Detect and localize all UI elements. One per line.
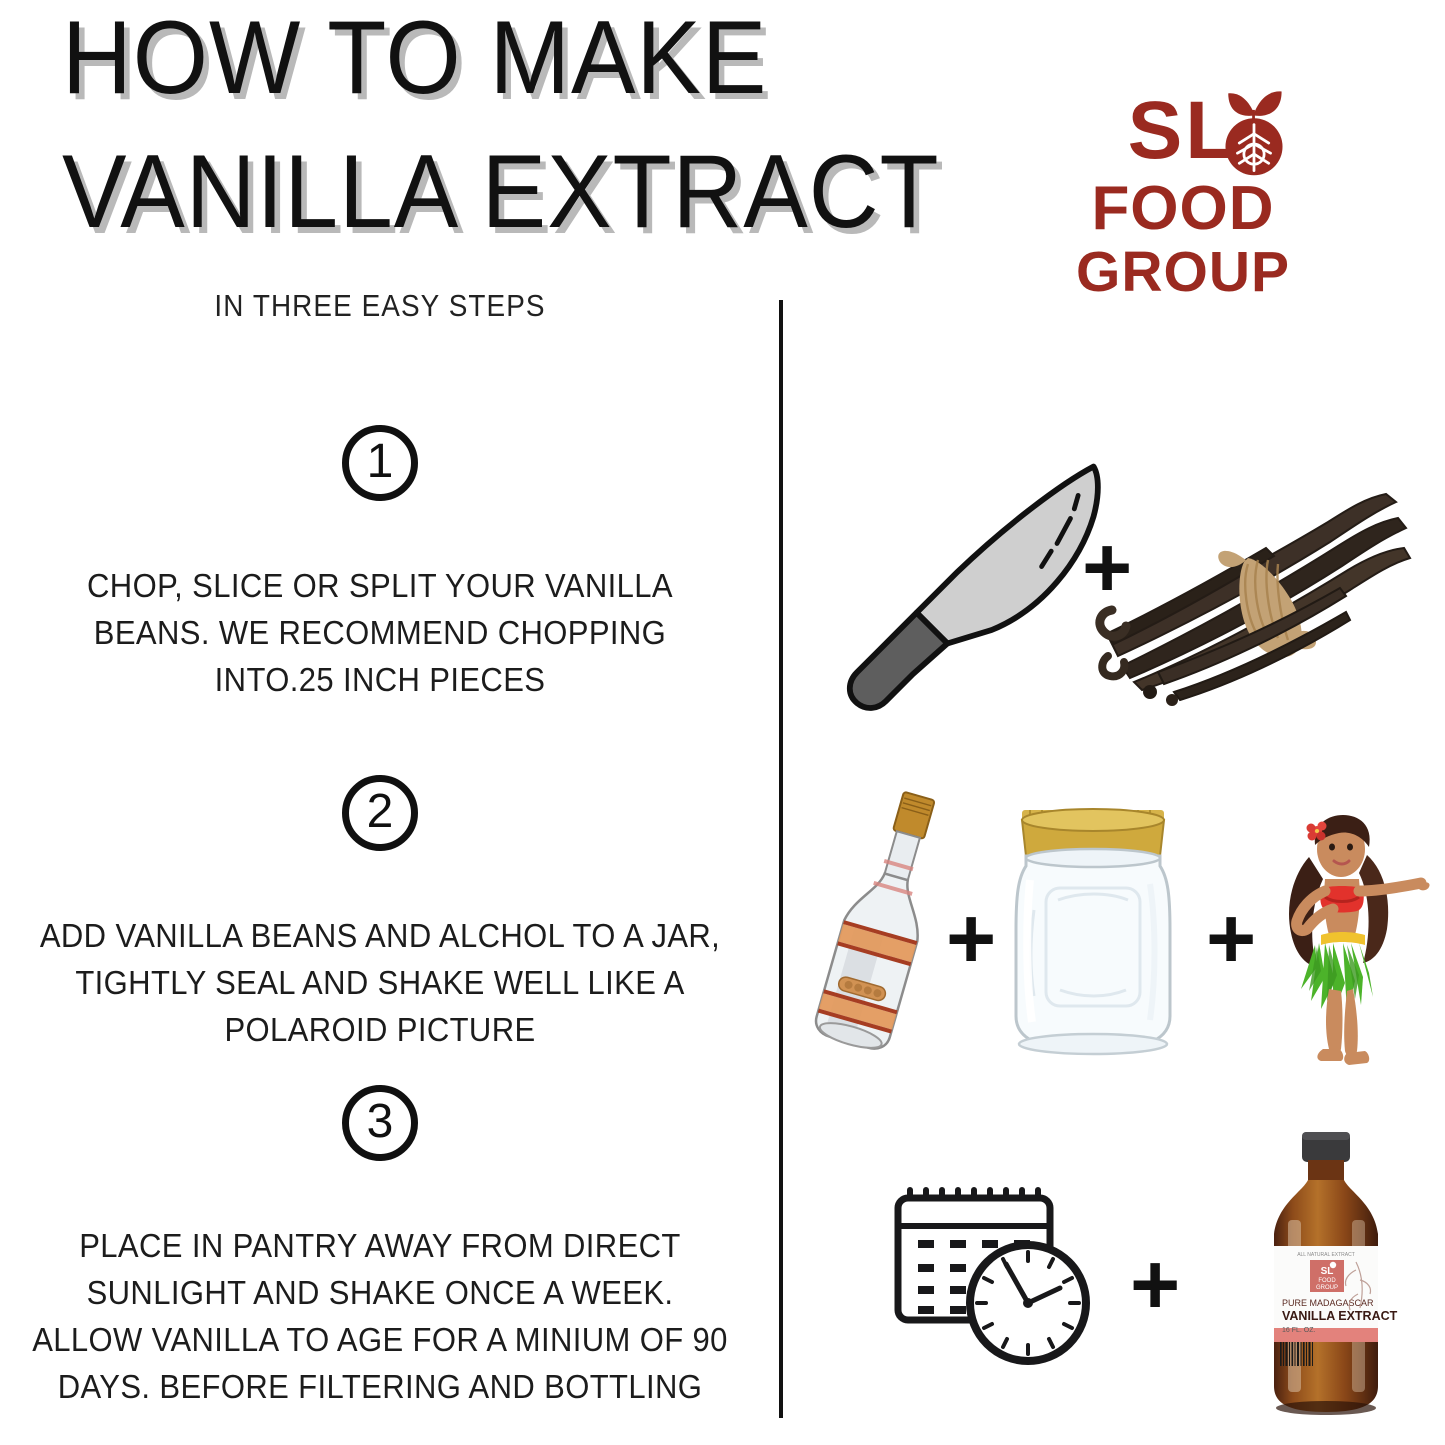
tomato-icon	[1208, 86, 1300, 178]
slo-food-group-logo: SL FOOD GROUP	[1068, 38, 1298, 301]
title-line-1: HOW TO MAKE	[62, 8, 880, 110]
step-number-2: 2	[367, 788, 394, 836]
label-volume: 16 FL. OZ.	[1282, 1327, 1316, 1334]
vanilla-extract-bottle-icon: ALL NATURAL EXTRACT SL FOOD GROUP PURE M…	[1252, 1128, 1400, 1418]
label-brand-group: GROUP	[1316, 1285, 1338, 1291]
chef-knife-icon	[812, 455, 1102, 705]
title-line-2: VANILLA EXTRACT	[62, 142, 880, 244]
label-tagline: ALL NATURAL EXTRACT	[1297, 1252, 1355, 1258]
page-title: HOW TO MAKE VANILLA EXTRACT	[62, 8, 942, 244]
step-text-1: CHOP, SLICE OR SPLIT YOUR VANILLA BEANS.…	[23, 563, 737, 704]
logo-mark-row: SL	[1068, 38, 1298, 176]
label-product: VANILLA EXTRACT	[1282, 1309, 1398, 1323]
hula-dancer-icon	[1255, 805, 1435, 1070]
vanilla-bean-bundle-icon	[1098, 460, 1418, 705]
step-text-2: ADD VANILLA BEANS AND ALCHOL TO A JAR, T…	[23, 913, 737, 1054]
vertical-divider	[779, 300, 783, 1418]
label-brand-food: FOOD	[1318, 1278, 1336, 1284]
step-number-3: 3	[367, 1098, 394, 1146]
plus-operator-row2-a: +	[946, 896, 996, 982]
vodka-bottle-icon	[795, 785, 970, 1060]
logo-text-food: FOOD	[1068, 178, 1298, 240]
infographic-canvas: HOW TO MAKE VANILLA EXTRACT IN THREE EAS…	[0, 0, 1445, 1445]
step-number-badge-3: 3	[342, 1085, 418, 1161]
calendar-clock-icon	[888, 1178, 1128, 1383]
logo-text-group: GROUP	[1068, 244, 1298, 301]
plus-operator-row3: +	[1130, 1242, 1180, 1328]
plus-operator-row2-b: +	[1206, 896, 1256, 982]
subtitle: IN THREE EASY STEPS	[38, 288, 722, 324]
step-1: 1 CHOP, SLICE OR SPLIT YOUR VANILLA BEAN…	[0, 425, 760, 704]
step-number-badge-2: 2	[342, 775, 418, 851]
step-number-1: 1	[367, 438, 394, 486]
step-text-3: PLACE IN PANTRY AWAY FROM DIRECT SUNLIGH…	[23, 1223, 737, 1410]
step-3: 3 PLACE IN PANTRY AWAY FROM DIRECT SUNLI…	[0, 1085, 760, 1410]
step-number-badge-1: 1	[342, 425, 418, 501]
mason-jar-icon	[1000, 800, 1185, 1060]
step-2: 2 ADD VANILLA BEANS AND ALCHOL TO A JAR,…	[0, 775, 760, 1054]
